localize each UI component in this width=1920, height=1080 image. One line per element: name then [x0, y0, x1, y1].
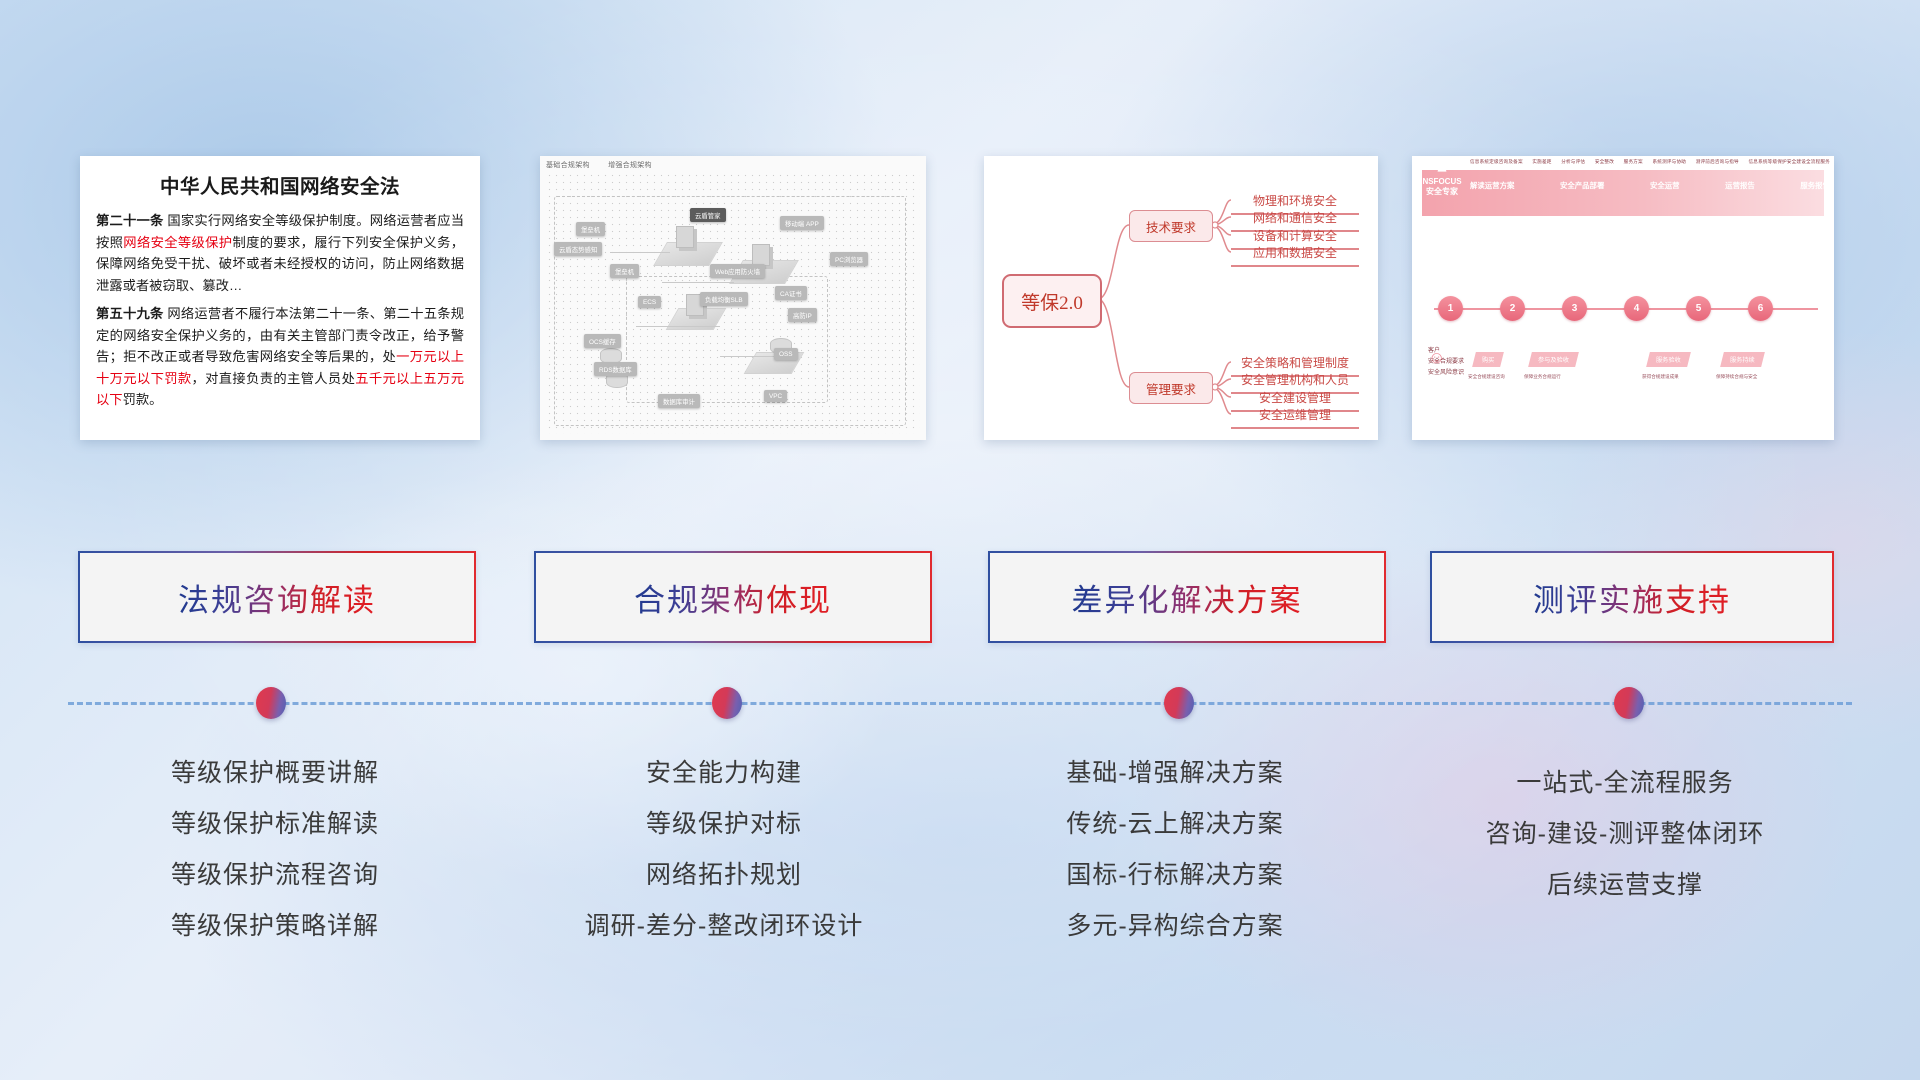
mindmap-root-node: 等保2.0 [1002, 274, 1102, 328]
architecture-server-2 [752, 244, 770, 266]
poster-header-bottom-label: 服务报告 [1800, 180, 1830, 191]
service-list-item: 咨询-建设-测评整体闭环 [1405, 809, 1845, 860]
poster-canvas: NSFOCUS安全专家 信息系统定级咨询及备案实施差距分析与评估安全整改服务方案… [1412, 156, 1834, 440]
mindmap-canvas: 等保2.0 技术要求 管理要求 物理和环境安全 网络和通信安全 设备和计算安全 … [984, 156, 1378, 440]
architecture-node: 数据库审计 [658, 394, 700, 408]
architecture-link-2 [662, 282, 734, 283]
law-highlight-text: 网络安全等级保护 [123, 235, 232, 250]
architecture-node: Web应用防火墙 [710, 264, 765, 278]
law-text: ，对直接负责的主管人员处 [192, 371, 356, 386]
architecture-link-3 [636, 326, 720, 327]
headline-box-assessment[interactable]: 测评实施支持 [1430, 551, 1834, 643]
poster-header-band [1422, 170, 1824, 216]
card-architecture-diagram: 基础合规架构 增强合规架构 云盾管家堡垒机云盾态势感知移动端 APPPC浏览器堡… [540, 156, 926, 440]
poster-header-bottom-label: 解读运营方案 [1470, 180, 1514, 191]
person-icon [1435, 160, 1449, 174]
poster-header-bottom-label: 安全产品部署 [1560, 180, 1604, 191]
law-paragraphs: 第二十一条 国家实行网络安全等级保护制度。网络运营者应当按照网络安全等级保护制度… [96, 210, 464, 411]
architecture-node: 移动端 APP [780, 216, 824, 230]
architecture-node: 高防IP [788, 308, 817, 322]
service-list-solution: 基础-增强解决方案传统-云上解决方案国标-行标解决方案多元-异构综合方案 [955, 748, 1395, 952]
poster-logo-text: NSFOCUS安全专家 [1418, 177, 1466, 197]
poster-step-3: 3 [1562, 296, 1587, 321]
architecture-tabs: 基础合规架构 增强合规架构 [546, 160, 668, 170]
architecture-canvas: 基础合规架构 增强合规架构 云盾管家堡垒机云盾态势感知移动端 APPPC浏览器堡… [540, 156, 926, 440]
headline-box-solution[interactable]: 差异化解决方案 [988, 551, 1386, 643]
poster-header-top-label: 信息系统定级咨询及备案 [1470, 159, 1523, 165]
architecture-tab-basic[interactable]: 基础合规架构 [546, 162, 590, 169]
architecture-node: RDS数据库 [594, 362, 637, 376]
architecture-tab-enhanced[interactable]: 增强合规架构 [608, 162, 652, 169]
service-list-item: 调研-差分-整改闭环设计 [504, 901, 944, 952]
service-list-item: 等级保护流程咨询 [55, 850, 495, 901]
poster-header-bottom-label: 安全运营 [1650, 180, 1680, 191]
architecture-node: ECS [638, 296, 661, 308]
law-title: 中华人民共和国网络安全法 [96, 170, 464, 199]
architecture-link-1 [610, 252, 670, 253]
architecture-node: VPC [764, 390, 787, 402]
law-paragraph: 第二十一条 国家实行网络安全等级保护制度。网络运营者应当按照网络安全等级保护制度… [96, 210, 464, 296]
poster-tag-sub: 获得合规建设成果 [1642, 374, 1679, 380]
poster-header-top-label: 测评前后咨询与指导 [1696, 159, 1739, 165]
law-article-number: 第二十一条 [96, 213, 163, 228]
card-service-poster: NSFOCUS安全专家 信息系统定级咨询及备案实施差距分析与评估安全整改服务方案… [1412, 156, 1834, 440]
service-list-architecture: 安全能力构建等级保护对标网络拓扑规划调研-差分-整改闭环设计 [504, 748, 944, 952]
poster-header-top-label: 实施差距 [1532, 159, 1551, 165]
poster-logo: NSFOCUS安全专家 [1418, 160, 1466, 197]
poster-footer-left-line: 安全风险意识 [1428, 368, 1464, 379]
service-list-assessment: 一站式-全流程服务咨询-建设-测评整体闭环后续运营支撑 [1405, 758, 1845, 911]
headline-label: 法规咨询解读 [178, 575, 376, 620]
headline-box-regulation[interactable]: 法规咨询解读 [78, 551, 476, 643]
timeline-dashed-line [68, 702, 1852, 705]
mindmap-leaf: 安全运维管理 [1231, 401, 1359, 429]
poster-footer-left: 客户安全合规要求安全风险意识 [1428, 346, 1464, 378]
timeline-dot-4[interactable] [1614, 687, 1644, 719]
poster-tag-sub: 安全合规建设咨询 [1468, 374, 1505, 380]
poster-step-1: 1 [1438, 296, 1463, 321]
service-list-item: 多元-异构综合方案 [955, 901, 1395, 952]
timeline-dot-3[interactable] [1164, 687, 1194, 719]
poster-header-top-label: 服务方案 [1624, 159, 1643, 165]
architecture-node: PC浏览器 [830, 252, 868, 266]
service-list-item: 后续运营支撑 [1405, 860, 1845, 911]
poster-header-bottom-label: 运营报告 [1725, 180, 1755, 191]
card-law-excerpt: 中华人民共和国网络安全法 第二十一条 国家实行网络安全等级保护制度。网络运营者应… [80, 156, 480, 440]
service-list-item: 基础-增强解决方案 [955, 748, 1395, 799]
headline-label: 合规架构体现 [634, 575, 832, 620]
service-list-item: 等级保护策略详解 [55, 901, 495, 952]
service-list-item: 等级保护标准解读 [55, 799, 495, 850]
law-text: 罚款。 [123, 392, 163, 407]
poster-header-top-label: 安全整改 [1595, 159, 1614, 165]
law-body: 中华人民共和国网络安全法 第二十一条 国家实行网络安全等级保护制度。网络运营者应… [80, 156, 480, 440]
service-list-regulation: 等级保护概要讲解等级保护标准解读等级保护流程咨询等级保护策略详解 [55, 748, 495, 952]
architecture-node: OCS缓存 [584, 334, 621, 348]
headline-label: 测评实施支持 [1533, 575, 1731, 620]
poster-header-top-label: 信息系统等级保护安全建设全流程服务 [1748, 159, 1830, 165]
poster-header-top-label: 系统测评与协助 [1652, 159, 1686, 165]
headline-label: 差异化解决方案 [1072, 575, 1303, 620]
mindmap-branch-management: 管理要求 [1129, 372, 1213, 404]
architecture-server-1 [676, 226, 694, 248]
poster-tag: 购买 [1472, 352, 1504, 367]
poster-header-top-labels: 信息系统定级咨询及备案实施差距分析与评估安全整改服务方案系统测评与协助测评前后咨… [1470, 159, 1830, 165]
mindmap-leaf: 应用和数据安全 [1231, 239, 1359, 267]
service-list-item: 安全能力构建 [504, 748, 944, 799]
poster-footer-left-line: 安全合规要求 [1428, 357, 1464, 368]
architecture-node: 云盾态势感知 [554, 242, 602, 256]
service-list-item: 国标-行标解决方案 [955, 850, 1395, 901]
service-list-item: 网络拓扑规划 [504, 850, 944, 901]
poster-step-5: 5 [1686, 296, 1711, 321]
architecture-node: 堡垒机 [610, 264, 639, 278]
poster-step-2: 2 [1500, 296, 1525, 321]
architecture-node: 堡垒机 [576, 222, 605, 236]
law-paragraph: 第五十九条 网络运营者不履行本法第二十一条、第二十五条规定的网络安全保护义务的，… [96, 303, 464, 411]
poster-tag-sub: 保障持续合规与安全 [1716, 374, 1757, 380]
poster-step-4: 4 [1624, 296, 1649, 321]
poster-footer-left-line: 客户 [1428, 346, 1464, 357]
law-article-number: 第五十九条 [96, 306, 163, 321]
headline-box-architecture[interactable]: 合规架构体现 [534, 551, 932, 643]
poster-step-6: 6 [1748, 296, 1773, 321]
mindmap-branch-technical: 技术要求 [1129, 210, 1213, 242]
service-list-item: 一站式-全流程服务 [1405, 758, 1845, 809]
architecture-node: 负载均衡SLB [700, 292, 748, 306]
timeline-dot-1[interactable] [256, 687, 286, 719]
architecture-node: 云盾管家 [690, 208, 726, 222]
service-list-item: 等级保护对标 [504, 799, 944, 850]
poster-tag: 服务验收 [1646, 352, 1690, 367]
poster-tag: 参与及验收 [1528, 352, 1579, 367]
card-mindmap: 等保2.0 技术要求 管理要求 物理和环境安全 网络和通信安全 设备和计算安全 … [984, 156, 1378, 440]
timeline-dot-2[interactable] [712, 687, 742, 719]
architecture-link-4 [720, 356, 778, 357]
poster-tag: 服务持续 [1720, 352, 1764, 367]
architecture-node: OSS [774, 348, 798, 360]
service-list-item: 传统-云上解决方案 [955, 799, 1395, 850]
poster-tag-sub: 保障业务合规运行 [1524, 374, 1561, 380]
architecture-node: CA证书 [775, 286, 807, 300]
poster-header-top-label: 分析与评估 [1561, 159, 1585, 165]
poster-header-bottom-labels: 解读运营方案安全产品部署安全运营运营报告服务报告 [1470, 180, 1830, 191]
service-list-item: 等级保护概要讲解 [55, 748, 495, 799]
